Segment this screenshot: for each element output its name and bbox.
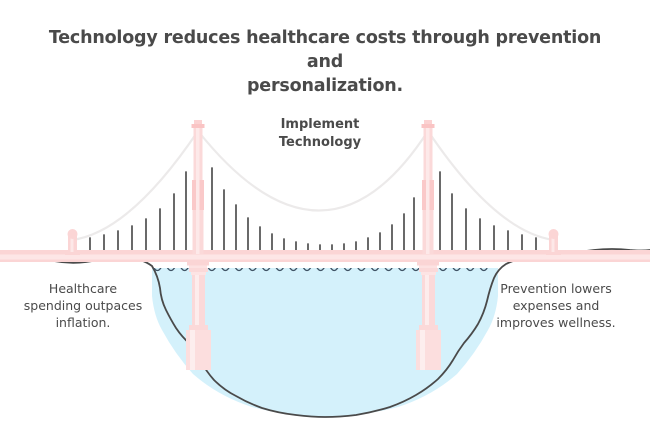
infographic-canvas: Technology reduces healthcare costs thro… xyxy=(0,0,650,427)
center-label: Implement Technology xyxy=(240,116,400,152)
right-label-line-3: improves wellness. xyxy=(472,314,640,331)
right-label-line-2: expenses and xyxy=(472,297,640,314)
title-line-2: personalization. xyxy=(28,74,622,98)
right-label-line-1: Prevention lowers xyxy=(472,280,640,297)
left-label-line-3: inflation. xyxy=(8,314,158,331)
left-label-line-2: spending outpaces xyxy=(8,297,158,314)
left-label: Healthcare spending outpaces inflation. xyxy=(8,280,158,331)
left-label-line-1: Healthcare xyxy=(8,280,158,297)
page-title: Technology reduces healthcare costs thro… xyxy=(0,26,650,98)
right-label: Prevention lowers expenses and improves … xyxy=(472,280,640,331)
center-label-line-2: Technology xyxy=(240,134,400,152)
center-label-line-1: Implement xyxy=(281,117,360,132)
title-line-1: Technology reduces healthcare costs thro… xyxy=(49,28,601,72)
